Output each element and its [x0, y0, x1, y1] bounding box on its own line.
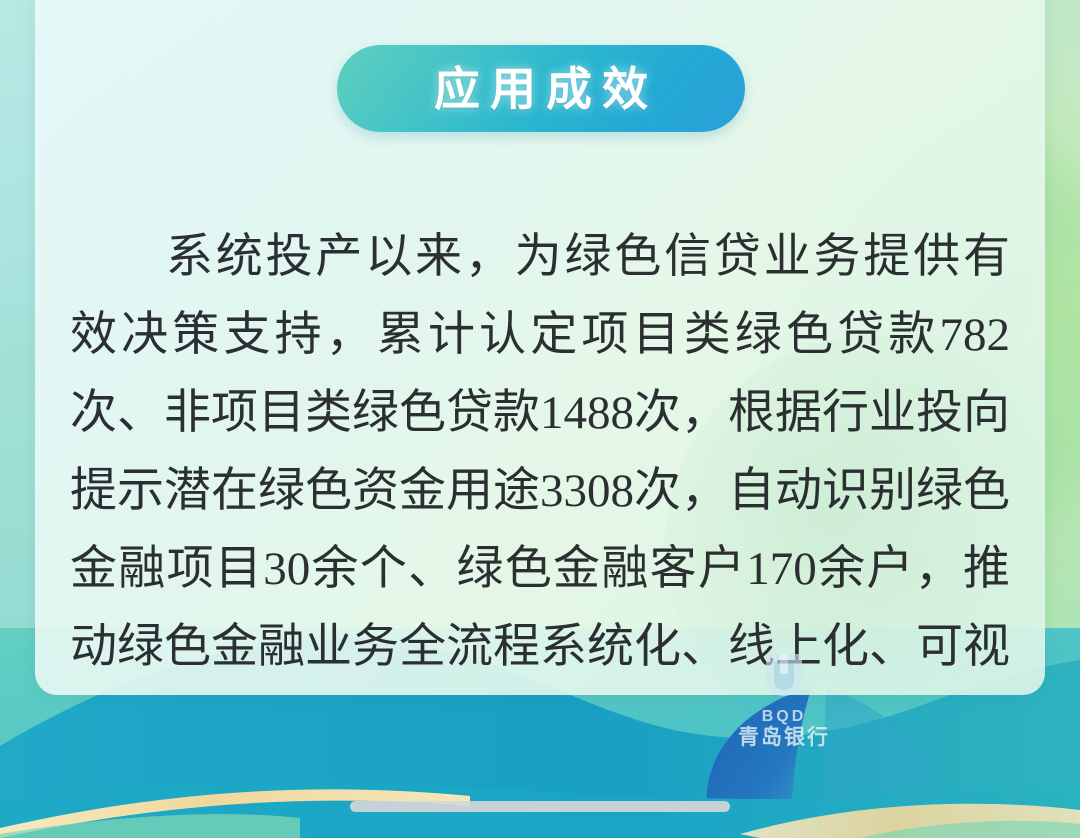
body-paragraph: 系统投产以来，为绿色信贷业务提供有效决策支持，累计认定项目类绿色贷款782次、非… [70, 218, 1010, 695]
bqd-logo-icon [757, 648, 811, 702]
bank-name: 青岛银行 [728, 725, 840, 751]
bank-abbreviation: BQD [728, 709, 840, 725]
home-indicator-bar[interactable] [350, 801, 730, 812]
bank-watermark: BQD 青岛银行 [728, 648, 840, 751]
poster-canvas: 应用成效 系统投产以来，为绿色信贷业务提供有效决策支持，累计认定项目类绿色贷款7… [0, 0, 1080, 838]
section-title-badge: 应用成效 [337, 45, 745, 132]
content-card: 应用成效 系统投产以来，为绿色信贷业务提供有效决策支持，累计认定项目类绿色贷款7… [35, 0, 1045, 695]
section-title-text: 应用成效 [424, 66, 658, 112]
